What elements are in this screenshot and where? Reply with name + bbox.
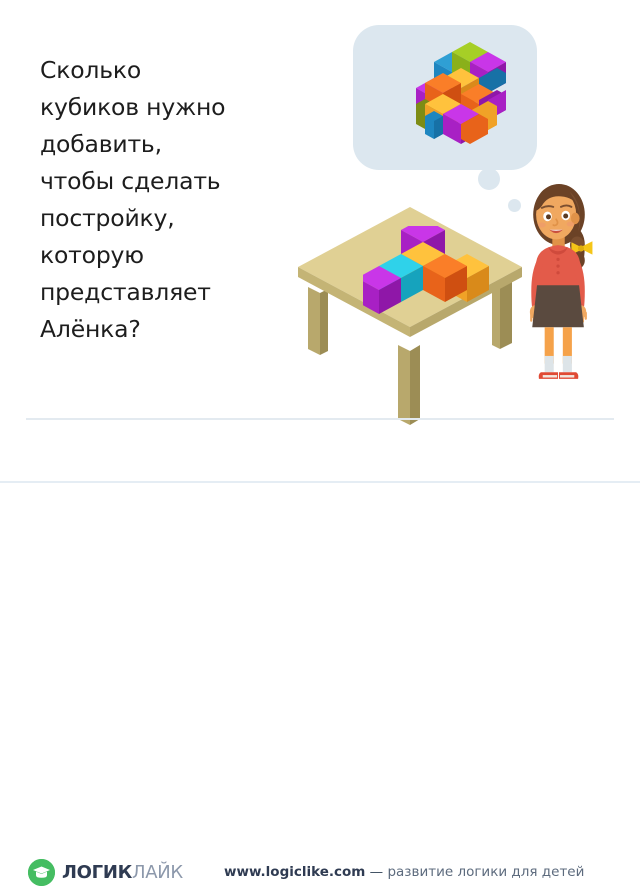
footer-tagline-block: www.logiclike.com — развитие логики для … [224, 864, 584, 880]
thought-bubble-dot-large [478, 168, 500, 190]
question-text: Сколько кубиков нужно добавить, чтобы сд… [40, 52, 310, 348]
logo-text: ЛОГИКЛАЙК [62, 862, 183, 883]
graduation-cap-icon [28, 859, 55, 886]
footer-tagline: развитие логики для детей [387, 864, 584, 880]
website-url[interactable]: www.logiclike.com [224, 864, 365, 880]
footer-separator: — [365, 864, 387, 880]
footer-divider [26, 418, 614, 420]
table-leg-right [500, 281, 512, 349]
logo-text-secondary: ЛАЙК [132, 862, 183, 883]
page-bottom-border [0, 481, 640, 483]
table-leg-front [398, 345, 410, 425]
logo-text-primary: ЛОГИК [62, 862, 132, 883]
table-leg-left [308, 287, 320, 355]
imagined-cube-structure [404, 36, 514, 151]
logo[interactable]: ЛОГИКЛАЙК [28, 859, 183, 886]
slide-canvas: Сколько кубиков нужно добавить, чтобы сд… [0, 0, 640, 484]
character-alenka [516, 172, 602, 387]
table-cube-structure [363, 226, 493, 336]
footer: ЛОГИКЛАЙК www.logiclike.com — развитие л… [0, 424, 640, 478]
